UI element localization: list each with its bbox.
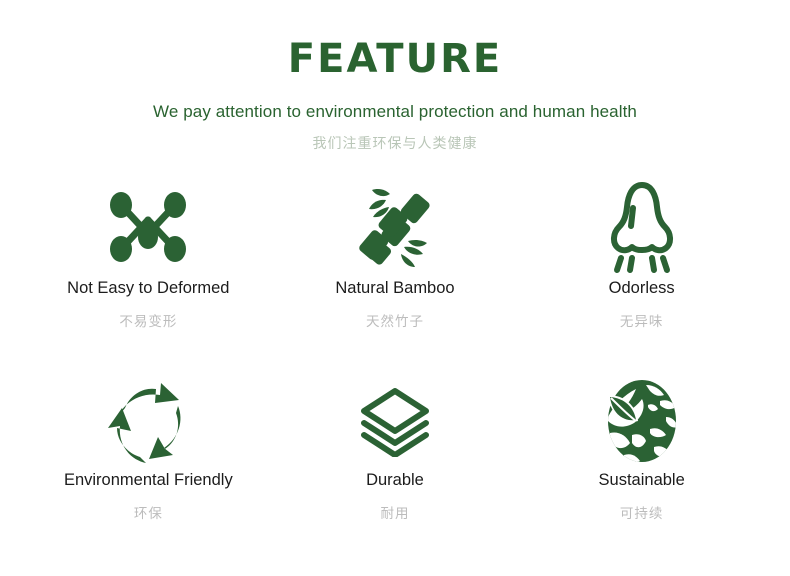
feature-label-en: Not Easy to Deformed xyxy=(67,279,229,299)
section-header: FEATURE We pay attention to environmenta… xyxy=(0,0,790,153)
feature-item-sustainable: Sustainable 可持续 xyxy=(527,371,757,567)
deformation-resistant-icon xyxy=(107,175,189,279)
feature-item-not-easy-to-deformed: Not Easy to Deformed 不易变形 xyxy=(33,175,263,371)
feature-label-cn: 耐用 xyxy=(380,491,409,522)
bamboo-icon xyxy=(356,175,434,279)
feature-item-durable: Durable 耐用 xyxy=(280,371,510,567)
page-title: FEATURE xyxy=(0,0,790,80)
feature-label-cn: 可持续 xyxy=(620,491,664,522)
feature-label-en: Environmental Friendly xyxy=(64,471,233,491)
nose-icon xyxy=(604,175,680,279)
feature-section: FEATURE We pay attention to environmenta… xyxy=(0,0,790,576)
feature-item-environmental-friendly: Environmental Friendly 环保 xyxy=(33,371,263,567)
feature-label-cn: 天然竹子 xyxy=(366,299,424,330)
recycle-icon xyxy=(105,371,191,471)
feature-item-odorless: Odorless 无异味 xyxy=(527,175,757,371)
feature-grid: Not Easy to Deformed 不易变形 xyxy=(25,175,765,567)
tagline-chinese: 我们注重环保与人类健康 xyxy=(0,122,790,153)
feature-label-en: Odorless xyxy=(609,279,675,299)
feature-label-cn: 不易变形 xyxy=(119,299,177,330)
tagline-english: We pay attention to environmental protec… xyxy=(0,80,790,122)
feature-item-natural-bamboo: Natural Bamboo 天然竹子 xyxy=(280,175,510,371)
feature-label-en: Natural Bamboo xyxy=(335,279,454,299)
globe-leaf-icon xyxy=(602,371,682,471)
feature-label-en: Sustainable xyxy=(599,471,685,491)
layers-icon xyxy=(359,371,431,471)
feature-label-cn: 无异味 xyxy=(620,299,664,330)
feature-label-cn: 环保 xyxy=(134,491,163,522)
feature-label-en: Durable xyxy=(366,471,424,491)
